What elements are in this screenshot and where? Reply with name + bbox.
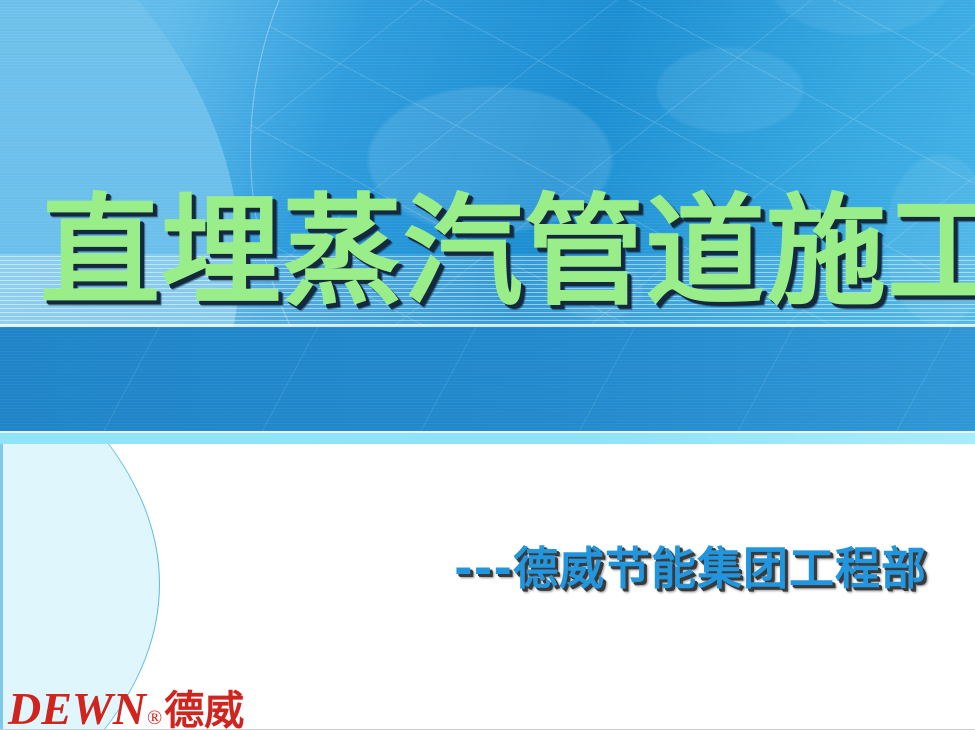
slide-subtitle: ---德威节能集团工程部 xyxy=(454,541,927,597)
registered-trademark-icon: ® xyxy=(147,708,162,728)
cyan-accent-strip xyxy=(0,433,975,444)
slide-title: 直埋蒸汽管道施工 xyxy=(40,188,935,318)
lower-left-edge-strip xyxy=(0,444,3,730)
dark-blue-band xyxy=(0,327,975,433)
dark-blue-band-texture xyxy=(0,327,975,433)
company-logo: DEWN ® 德威 xyxy=(8,686,244,730)
logo-chinese-name: 德威 xyxy=(164,691,244,730)
logo-wordmark: DEWN xyxy=(8,686,146,730)
presentation-slide: 直埋蒸汽管道施工 ---德威节能集团工程部 DEWN ® 德威 xyxy=(0,0,975,730)
